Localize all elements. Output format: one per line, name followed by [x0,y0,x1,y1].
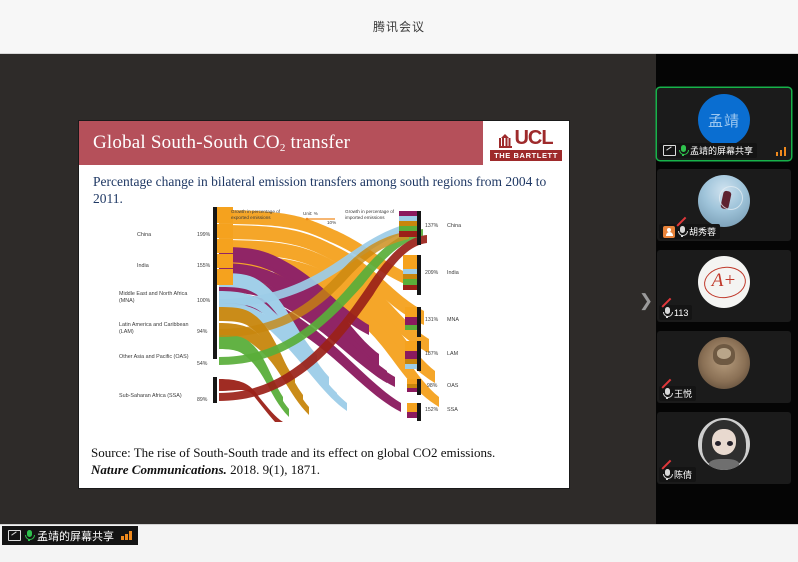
left-node-label-china: China [137,232,199,239]
left-node-value-india: 155% [197,263,210,269]
chevron-right-icon[interactable]: ❯ [638,290,654,312]
meeting-window: 腾讯会议 Global South-South CO2 transfer UCL… [0,0,798,561]
participant-name: 陈倩 [674,468,692,481]
signal-bars-icon [776,147,787,156]
ucl-bartlett-label: THE BARTLETT [490,150,562,161]
right-node-label-lam: LAM [447,351,458,357]
avatar [698,175,750,227]
mic-muted-icon [663,307,671,318]
slide-title-subscript: 2 [280,142,286,154]
left-node-value-china: 199% [197,232,210,238]
tile-infobar: 胡秀蓉 [659,224,720,239]
left-node-value-lam: 94% [197,329,207,335]
participant-name: 胡秀蓉 [689,225,716,238]
avatar [698,337,750,389]
participant-tile-chenqian[interactable]: 陈倩 [657,412,791,484]
left-node-label-oas: Other Asia and Pacific (OAS) [119,354,195,361]
right-node-label-oas: OAS [447,383,458,389]
left-nodes [213,207,217,403]
left-node-value-ssa: 89% [197,397,207,403]
left-node-value-mna: 100% [197,298,210,304]
mic-muted-icon [663,469,671,480]
participant-tile-huxiurong[interactable]: 胡秀蓉 [657,169,791,241]
right-node-value-india: 209% [425,270,438,276]
shared-slide: Global South-South CO2 transfer UCL THE … [79,121,569,488]
tile-infobar: 孟靖的屏幕共享 [659,143,757,158]
window-title: 腾讯会议 [0,0,798,53]
signal-bars-icon [121,531,132,540]
screen-share-icon [663,145,676,156]
unit-label: Unit: % [303,211,318,217]
participant-tile-113[interactable]: A+ 113 [657,250,791,322]
right-axis-header: Growth in percentage of imported emissio… [345,209,407,221]
ucl-mark: UCL [499,126,552,148]
slide-title-tail: transfer [286,132,351,153]
right-node-value-lam: 187% [425,351,438,357]
slide-header: Global South-South CO2 transfer UCL THE … [79,121,569,165]
right-node-value-china: 137% [425,223,438,229]
avatar-photo [698,337,750,389]
right-nodes [417,211,421,421]
avatar: 孟靖 [698,94,750,146]
sankey-svg [79,207,569,422]
avatar-initial: 孟靖 [698,94,750,146]
mic-on-icon [25,530,33,541]
right-node-label-mna: MNA [447,317,459,323]
mic-muted-icon [663,388,671,399]
participant-panel: 孟靖 孟靖的屏幕共享 胡秀蓉 [657,88,791,508]
slide-title-main: Global South-South CO [93,132,280,153]
source-line-1: Source: The rise of South-South trade an… [91,445,495,460]
participant-name: 孟靖的屏幕共享 [690,144,753,157]
avatar: A+ [698,256,750,308]
screen-share-icon [8,530,21,541]
right-node-label-ssa: SSA [447,407,458,413]
ucl-logo: UCL THE BARTLETT [483,121,569,165]
slide-subtitle: Percentage change in bilateral emission … [79,165,569,207]
left-node-label-ssa: Sub-Saharan Africa (SSA) [119,393,195,400]
left-node-label-mna: Middle East and North Africa (MNA) [119,291,195,305]
sankey-chart: Growth in percentage of exported emissio… [79,207,569,422]
tile-infobar: 王悦 [659,386,696,401]
participant-name: 113 [674,308,688,318]
avatar-photo: A+ [698,256,750,308]
source-rest: 2018. 9(1), 1871. [227,462,320,477]
portico-icon [499,134,512,148]
right-node-label-india: India [447,270,459,276]
left-node-label-india: India [137,263,199,270]
mic-muted-icon [678,226,686,237]
right-node-value-ssa: 152% [425,407,438,413]
left-axis-header: Growth in percentage of exported emissio… [231,209,295,221]
scale-label: 10% [327,220,336,226]
tile-infobar: 113 [659,305,692,320]
participant-tile-mengjing[interactable]: 孟靖 孟靖的屏幕共享 [657,88,791,160]
status-bar: 孟靖的屏幕共享 [0,524,798,562]
avatar-photo [698,418,750,470]
left-node-value-oas: 54% [197,361,207,367]
avatar-photo [698,175,750,227]
slide-title: Global South-South CO2 transfer [79,132,350,154]
participant-tile-wangyue[interactable]: 王悦 [657,331,791,403]
host-icon [663,226,675,238]
mic-on-icon [679,145,687,156]
right-node-label-china: China [447,223,461,229]
right-node-value-mna: 131% [425,317,438,323]
participant-name: 王悦 [674,387,692,400]
right-node-value-oas: 98% [427,383,437,389]
tile-infobar: 陈倩 [659,467,696,482]
screen-share-status-chip[interactable]: 孟靖的屏幕共享 [2,526,138,545]
screen-share-status-text: 孟靖的屏幕共享 [37,528,114,544]
ucl-wordmark: UCL [514,128,552,148]
avatar [698,418,750,470]
source-journal: Nature Communications. [91,462,227,477]
left-node-label-lam: Latin America and Caribbean (LAM) [119,322,195,336]
window-titlebar: 腾讯会议 [0,0,798,54]
slide-source: Source: The rise of South-South trade an… [79,438,569,488]
